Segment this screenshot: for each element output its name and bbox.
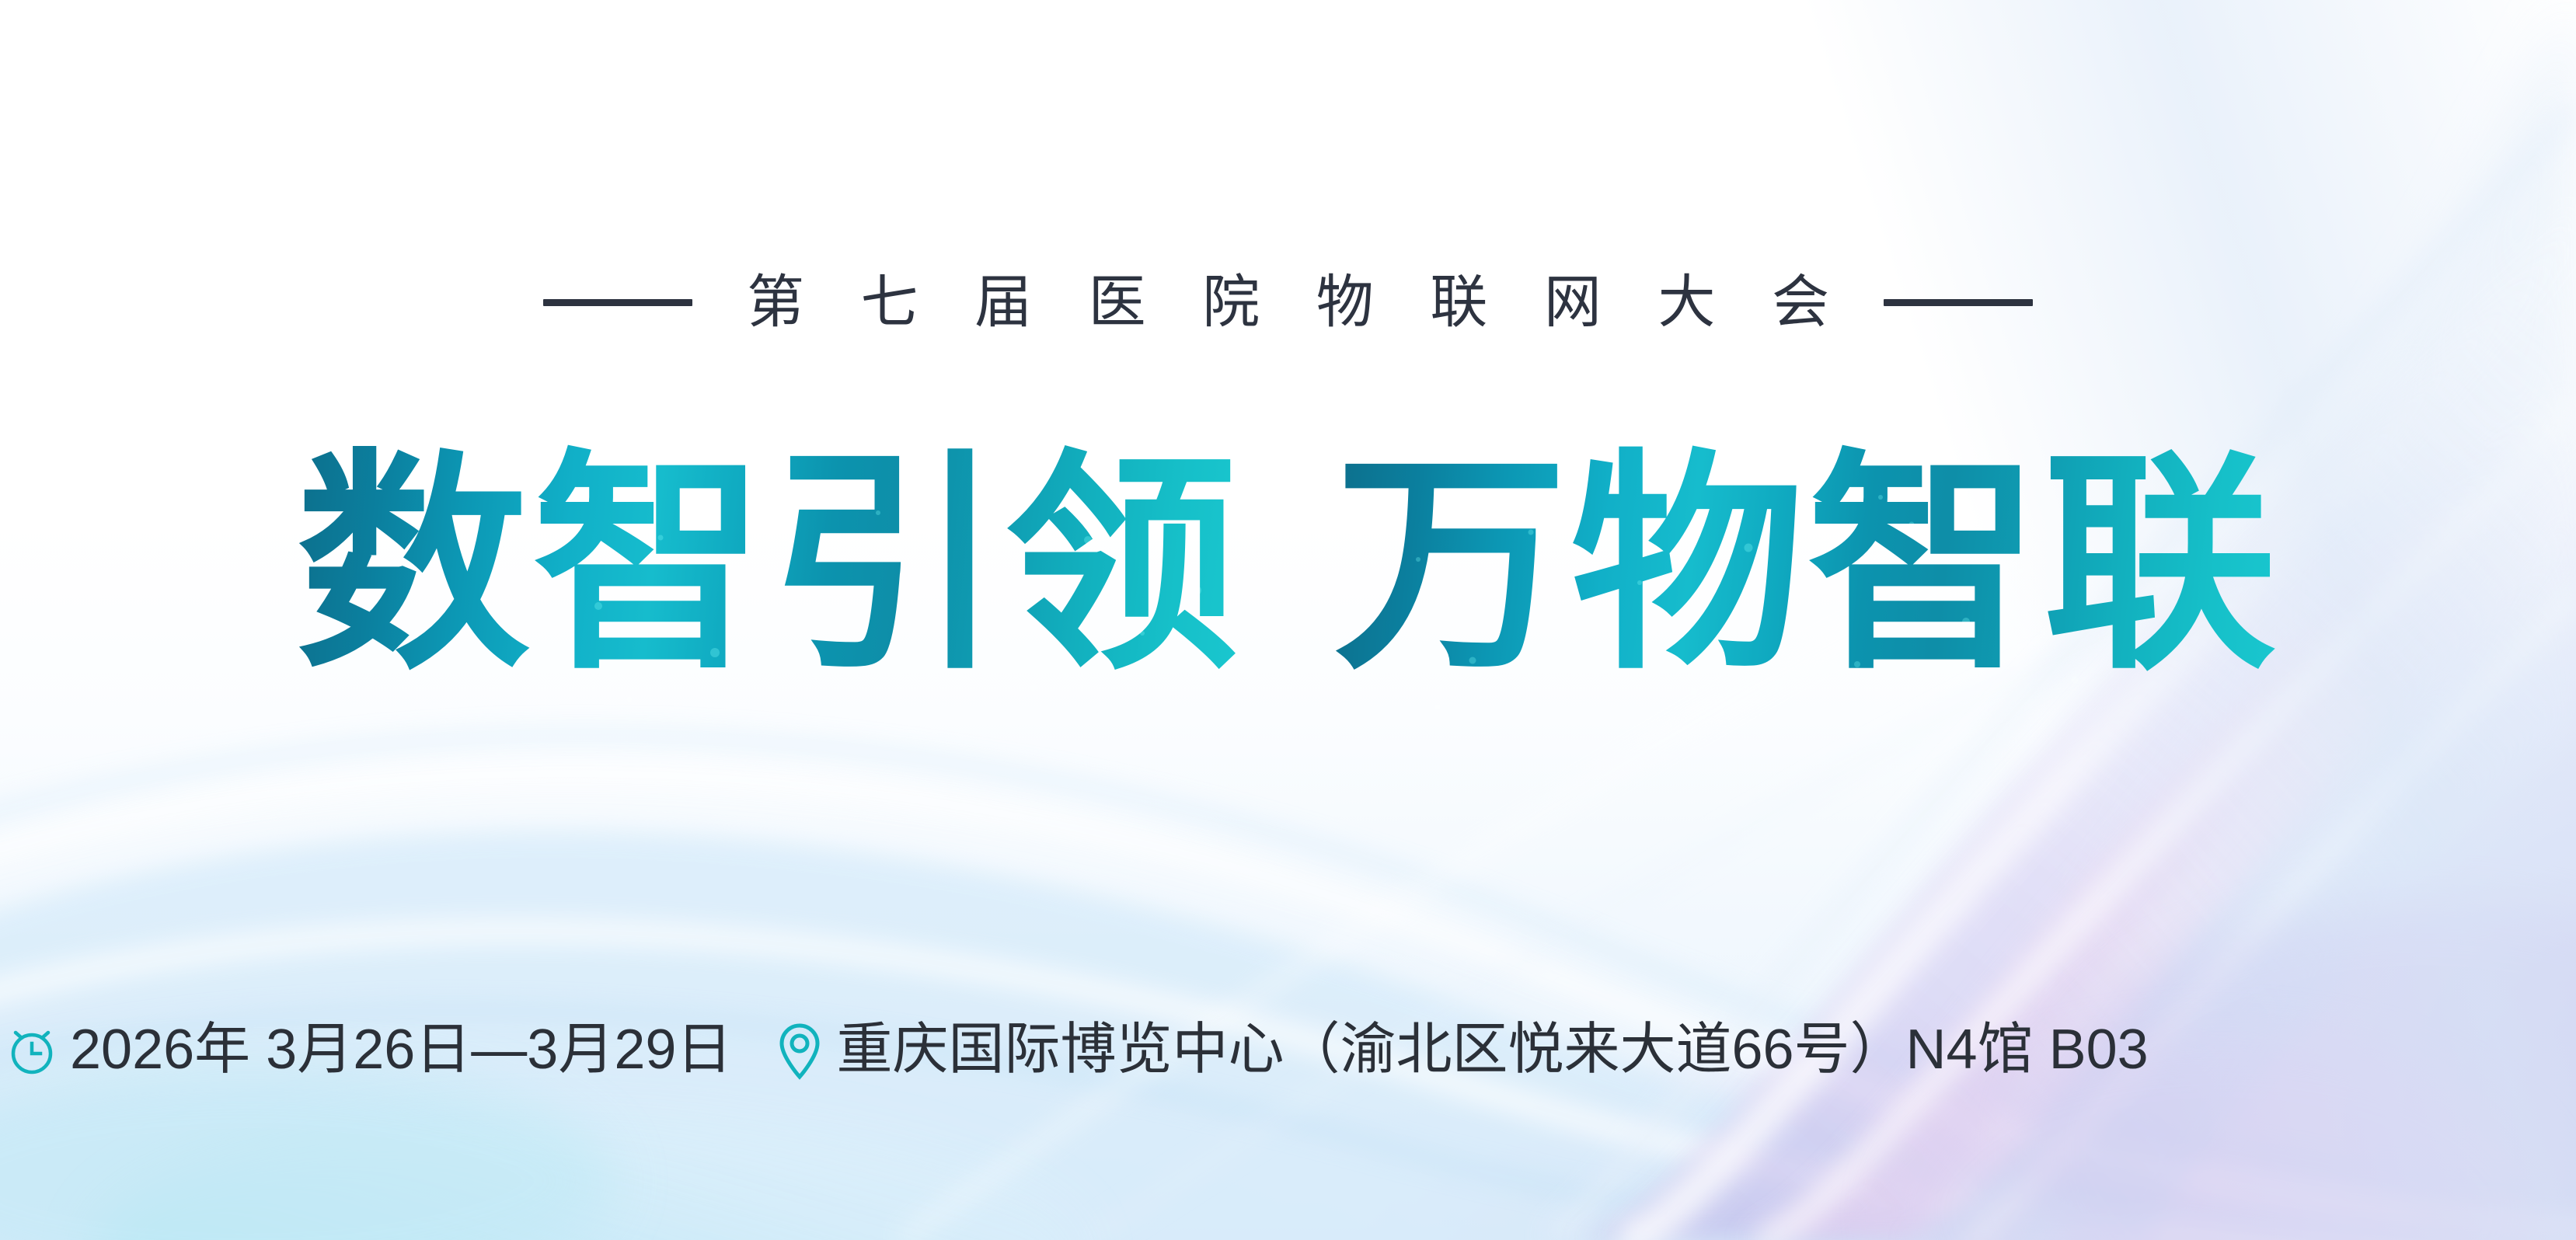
event-date-text: 2026年 3月26日—3月29日: [70, 1022, 732, 1078]
alarm-clock-icon: [6, 1023, 58, 1076]
subtitle-text: 第 七 届 医 院 物 联 网 大 会: [727, 273, 1849, 331]
main-title: 数智引领 万物智联: [0, 435, 2576, 696]
subtitle-dash-left: [543, 299, 692, 306]
subtitle-dash-right: [1884, 299, 2033, 306]
event-location-item: 重庆国际博览中心（渝北区悦来大道66号）N4馆 B03: [776, 1019, 2148, 1080]
main-title-phrase-1: 数智引领: [297, 435, 1242, 696]
main-title-line: 数智引领 万物智联: [297, 435, 2280, 696]
event-info-bar: 2026年 3月26日—3月29日 重庆国际博览中心（渝北区悦来大道66号）N4…: [6, 1019, 2149, 1080]
main-title-phrase-2: 万物智联: [1335, 435, 2280, 696]
event-date-item: 2026年 3月26日—3月29日: [6, 1022, 732, 1078]
event-location-text: 重庆国际博览中心（渝北区悦来大道66号）N4馆 B03: [836, 1022, 2148, 1078]
conference-banner: 第 七 届 医 院 物 联 网 大 会 数智引领 万物智联: [0, 0, 2576, 1240]
subtitle-row: 第 七 届 医 院 物 联 网 大 会: [0, 273, 2576, 331]
map-pin-icon: [776, 1019, 824, 1080]
